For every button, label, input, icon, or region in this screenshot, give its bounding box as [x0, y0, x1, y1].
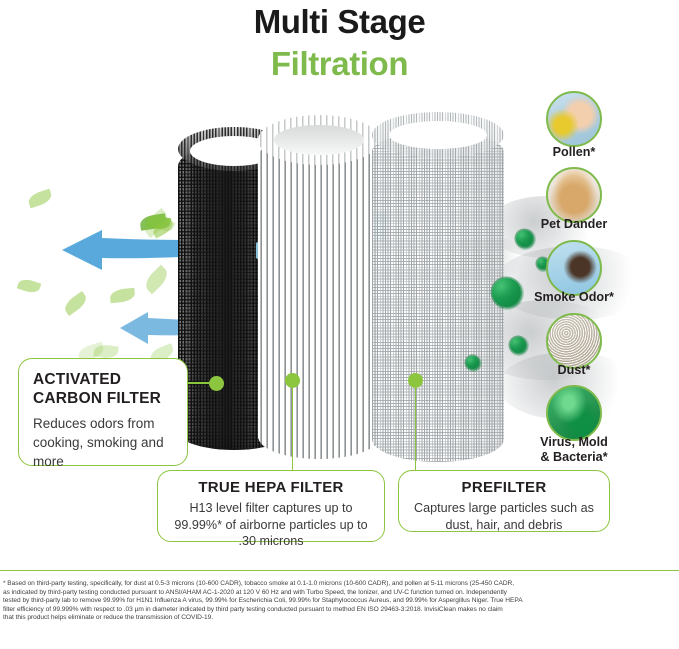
particle-icon — [466, 356, 479, 369]
connector-line-hepa — [292, 380, 294, 470]
callout-prefilter-heading: PREFILTER — [409, 479, 599, 497]
true-hepa-filter-graphic — [258, 115, 380, 460]
badge-virus-label-line1: Virus, Mold — [497, 435, 651, 450]
prefilter-graphic — [372, 112, 504, 462]
badge-pollen-label: Pollen* — [497, 145, 651, 160]
callout-carbon-heading-line1: ACTIVATED — [33, 371, 173, 390]
infographic-canvas: Multi Stage Filtration — [0, 0, 679, 649]
footnote-line-5: that this product helps eliminate or red… — [3, 614, 676, 623]
footnote-line-4: filter efficiency of 99.999% with respec… — [3, 606, 676, 615]
footnote-line-2: as indicated by third-party testing cond… — [3, 589, 676, 598]
callout-prefilter-body: Captures large particles such as dust, h… — [409, 500, 599, 533]
badge-virus-mold-bacteria-label: Virus, Mold & Bacteria* — [497, 435, 651, 465]
callout-hepa-body: H13 level filter captures up to 99.99%* … — [168, 500, 374, 550]
badge-smoke-odor-icon[interactable] — [546, 240, 602, 296]
callout-true-hepa[interactable]: TRUE HEPA FILTER H13 level filter captur… — [157, 470, 385, 542]
badge-pet-dander-label: Pet Dander — [497, 217, 651, 232]
connector-dot-carbon — [209, 376, 224, 391]
leaf-icon — [109, 288, 135, 304]
badge-dust-label: Dust* — [497, 363, 651, 378]
leaf-icon — [62, 291, 90, 316]
particle-icon — [510, 337, 526, 353]
badge-virus-label-line2: & Bacteria* — [497, 450, 651, 465]
page-title: Multi Stage — [0, 2, 679, 42]
badge-smoke-odor-label: Smoke Odor* — [497, 290, 651, 305]
connector-line-prefilter — [415, 380, 417, 470]
badge-pet-dander-icon[interactable] — [546, 167, 602, 223]
particle-icon — [516, 230, 533, 247]
callout-activated-carbon[interactable]: ACTIVATED CARBON FILTER Reduces odors fr… — [18, 358, 188, 466]
callout-hepa-heading: TRUE HEPA FILTER — [168, 479, 374, 497]
footer-divider — [0, 570, 679, 571]
badge-dust-icon[interactable] — [546, 313, 602, 369]
callout-carbon-heading-line2: CARBON FILTER — [33, 390, 173, 409]
badge-virus-mold-bacteria-icon[interactable] — [546, 385, 602, 441]
footnote-block: * Based on third-party testing, specific… — [3, 580, 676, 623]
page-subtitle: Filtration — [0, 44, 679, 84]
leaf-icon — [27, 189, 54, 209]
callout-prefilter[interactable]: PREFILTER Captures large particles such … — [398, 470, 610, 532]
badge-pollen-icon[interactable] — [546, 91, 602, 147]
footnote-line-3: tested by third-party lab to remove 99.9… — [3, 597, 676, 606]
callout-carbon-body: Reduces odors from cooking, smoking and … — [33, 414, 173, 471]
title-block: Multi Stage Filtration — [0, 0, 679, 84]
footnote-line-1: * Based on third-party testing, specific… — [3, 580, 676, 589]
leaf-icon — [17, 277, 42, 295]
